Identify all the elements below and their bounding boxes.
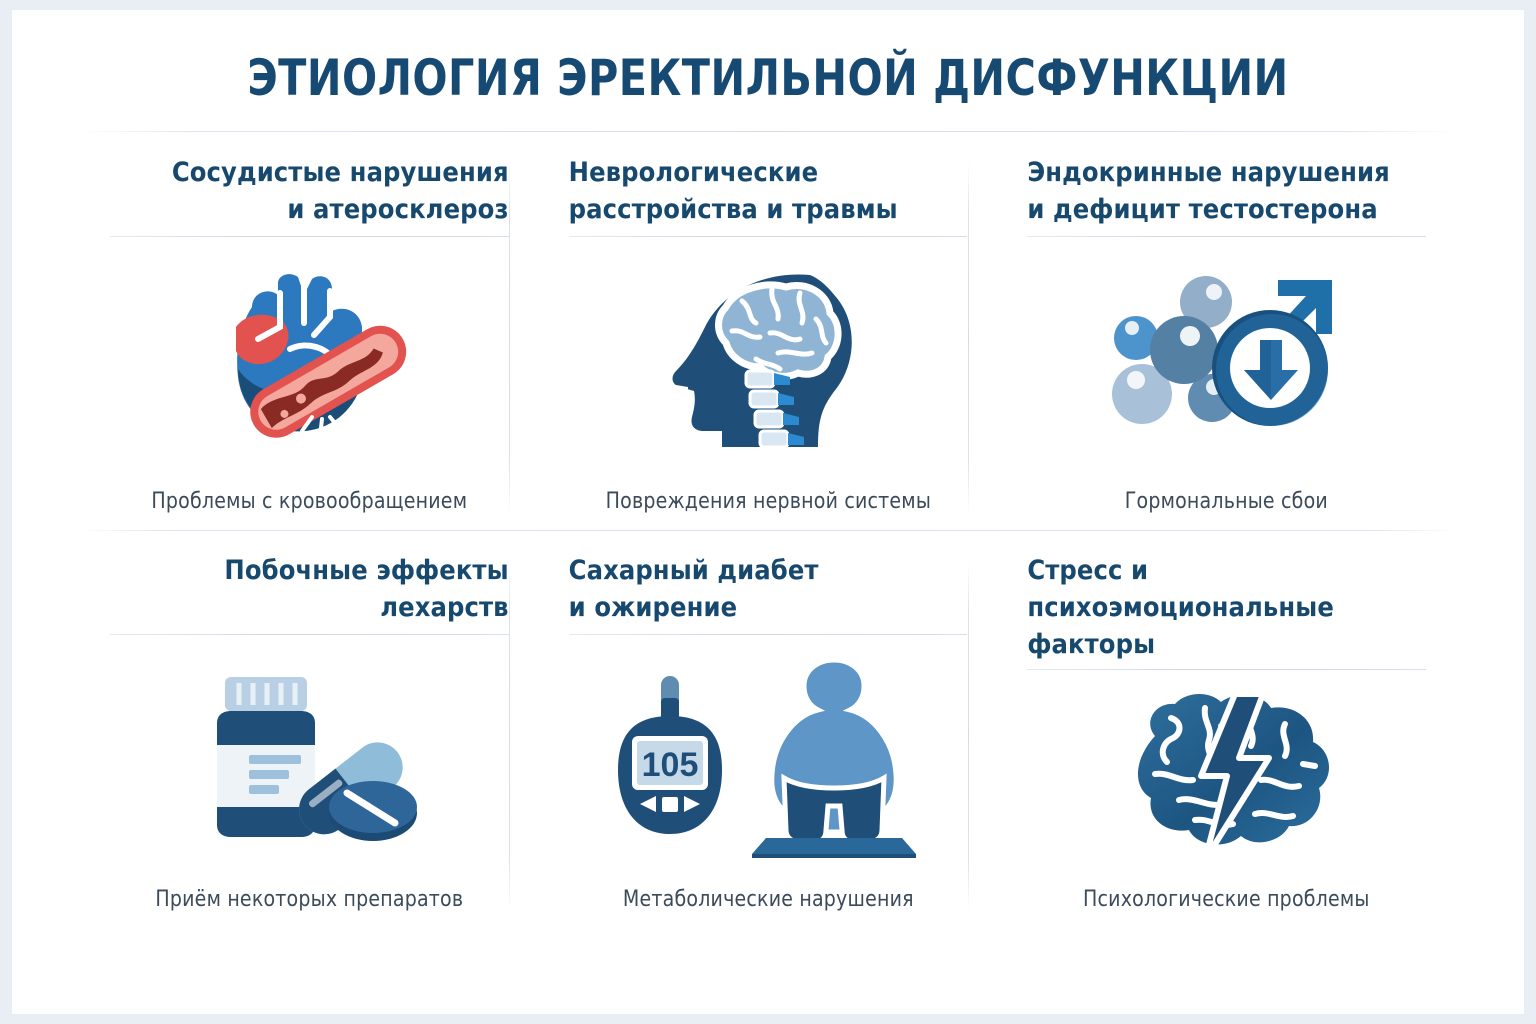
card-neurologic-caption: Повреждения нервной системы: [577, 489, 960, 530]
card-vascular-title-line2: и атеросклероз: [110, 191, 509, 228]
head-brain-spine-icon: [660, 267, 875, 452]
button-center: [662, 797, 678, 812]
page-title: ЭТИОЛОГИЯ ЭРЕКТИЛЬНОЙ ДИСФУНКЦИИ: [72, 52, 1463, 105]
card-neurologic-title-line2: расстройства и травмы: [569, 191, 968, 228]
card-neurologic-title: Неврологические расстройства и травмы: [569, 154, 968, 230]
atom-center: [1150, 316, 1218, 384]
card-endocrine-icon-area: [1027, 237, 1426, 489]
card-endocrine-caption: Гормональные сбои: [1035, 489, 1418, 530]
card-stress-title-line1: Стресс и психоэмоциональные: [1027, 552, 1426, 627]
molecule-male-symbol-down-arrow-icon: [1102, 270, 1352, 450]
card-vascular[interactable]: Сосудистые нарушения и атеросклероз: [80, 132, 539, 530]
heart-artery-plaque-icon: [194, 265, 424, 455]
card-stress-title: Стресс и психоэмоциональные факторы: [1027, 552, 1426, 664]
card-medication-icon-area: [110, 635, 509, 887]
card-stress-icon-area: [1027, 670, 1426, 886]
tablet: [329, 781, 417, 841]
cards-grid: Сосудистые нарушения и атеросклероз: [80, 132, 1456, 928]
obese-person: [752, 660, 916, 858]
card-medication-title-line2: лехарств: [110, 589, 509, 626]
card-endocrine[interactable]: Эндокринные нарушения и дефицит тестосте…: [997, 132, 1456, 530]
card-diabetes-title-line1: Сахарный диабет: [569, 552, 968, 589]
infographic-poster: ЭТИОЛОГИЯ ЭРЕКТИЛЬНОЙ ДИСФУНКЦИИ Сосудис…: [12, 10, 1524, 1014]
card-diabetes-icon-area: 105: [569, 635, 968, 887]
atom-bottom-left-highlight: [1127, 371, 1145, 389]
brain-lightning-bolt-icon: [1109, 688, 1344, 863]
card-vascular-icon-area: [110, 237, 509, 489]
pill-bottle-capsule-tablet-icon: [197, 665, 422, 850]
card-medication-title: Побочные эффекты лехарств: [110, 552, 509, 628]
atom-left-highlight: [1125, 321, 1139, 335]
atom-center-highlight: [1180, 326, 1200, 346]
card-vascular-title-line1: Сосудистые нарушения: [110, 154, 509, 191]
scale-top: [752, 838, 916, 854]
card-diabetes[interactable]: Сахарный диабет и ожирение 105: [539, 530, 998, 928]
scale-base: [752, 854, 916, 858]
card-diabetes-title: Сахарный диабет и ожирение: [569, 552, 968, 628]
card-neurologic-title-line1: Неврологические: [569, 154, 968, 191]
card-diabetes-caption: Метаболические нарушения: [577, 887, 960, 928]
card-neurologic-icon-area: [569, 237, 968, 489]
card-vascular-caption: Проблемы с кровообращением: [118, 489, 501, 530]
bottle-cap: [225, 677, 307, 711]
card-vascular-title: Сосудистые нарушения и атеросклероз: [110, 154, 509, 230]
card-diabetes-title-line2: и ожирение: [569, 589, 968, 626]
card-neurologic[interactable]: Неврологические расстройства и травмы: [539, 132, 998, 530]
card-endocrine-title-line2: и дефицит тестостерона: [1027, 191, 1426, 228]
atom-top-highlight: [1206, 284, 1222, 300]
poster-header: ЭТИОЛОГИЯ ЭРЕКТИЛЬНОЙ ДИСФУНКЦИИ: [12, 10, 1524, 132]
card-medication-title-line1: Побочные эффекты: [110, 552, 509, 589]
glucometer-reading: 105: [642, 746, 699, 784]
card-stress[interactable]: Стресс и психоэмоциональные факторы: [997, 530, 1456, 928]
card-medication-caption: Приём некоторых препаратов: [118, 887, 501, 928]
card-endocrine-title-line1: Эндокринные нарушения: [1027, 154, 1426, 191]
glucometer-obese-person-scale-icon: 105: [618, 658, 918, 858]
mouth-notch: [674, 385, 689, 397]
card-medication[interactable]: Побочные эффекты лехарств: [80, 530, 539, 928]
card-stress-title-line2: факторы: [1027, 626, 1426, 663]
test-strip: [661, 676, 679, 722]
card-endocrine-title: Эндокринные нарушения и дефицит тестосте…: [1027, 154, 1426, 230]
card-stress-caption: Психологические проблемы: [1035, 887, 1418, 928]
